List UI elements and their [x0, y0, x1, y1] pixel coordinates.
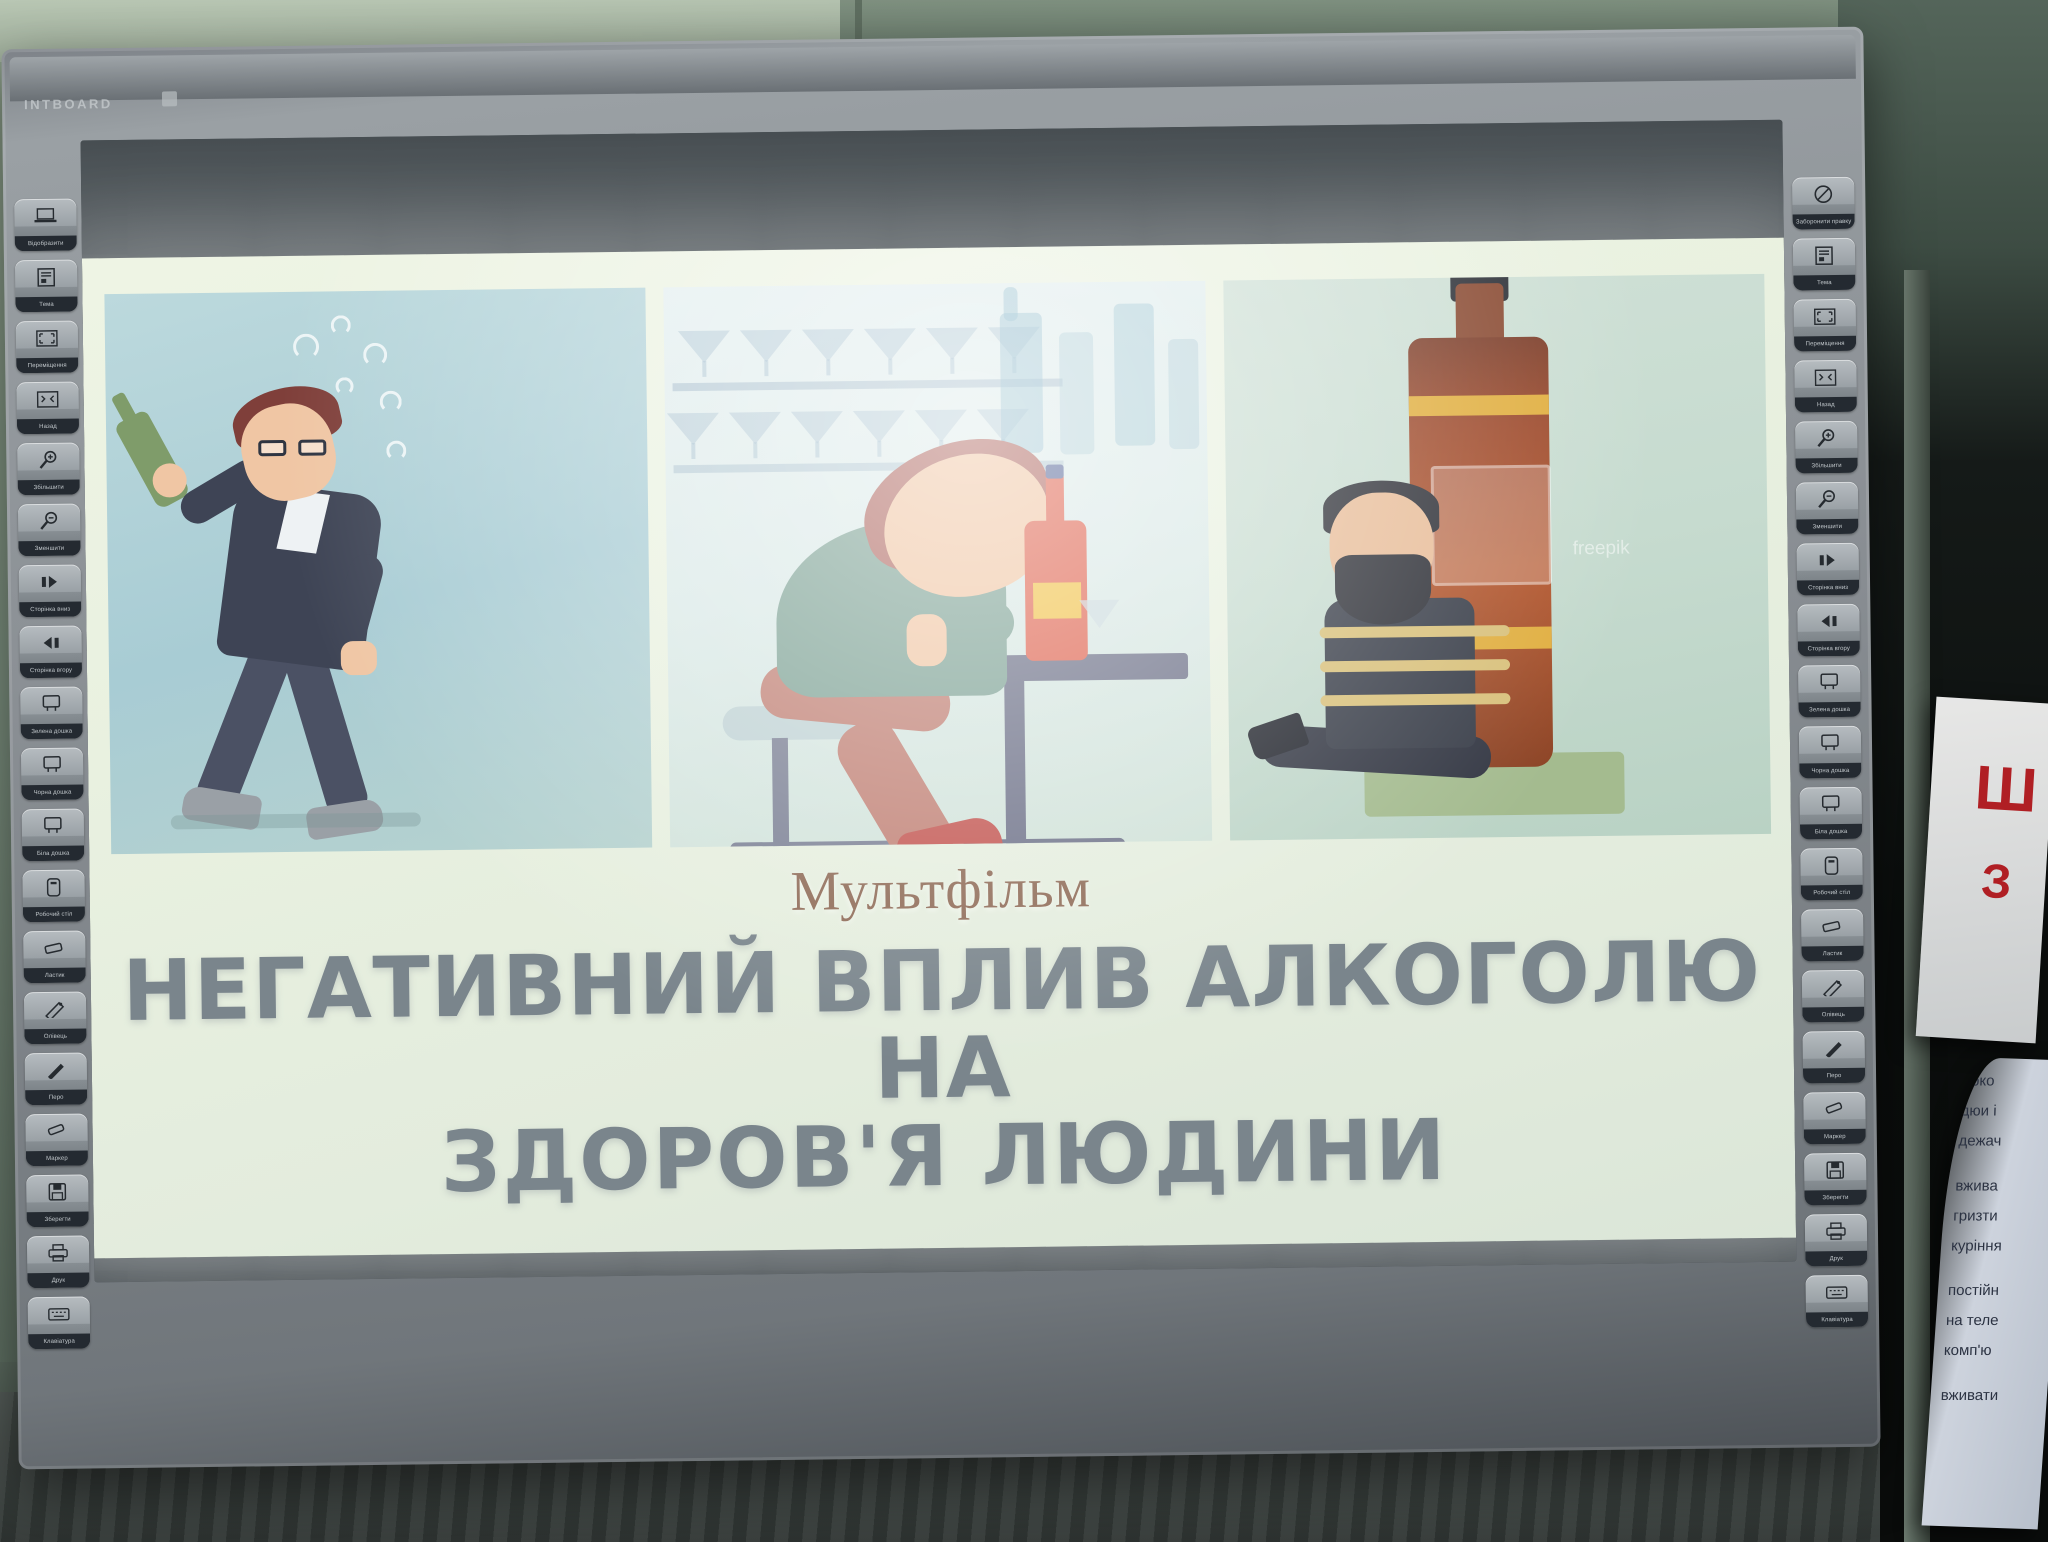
move-icon	[1810, 304, 1840, 328]
zoom-out-icon	[1812, 487, 1842, 511]
whiteboard-button-theme[interactable]: Тема	[1793, 238, 1856, 291]
whiteboard-button-label: Відобразити	[15, 236, 77, 252]
eraser-icon	[39, 936, 69, 960]
whiteboard-button-green-board[interactable]: Зелена дошка	[20, 686, 83, 739]
whiteboard-button-label: Зелена дошка	[1799, 702, 1861, 718]
green-board-icon	[36, 692, 66, 716]
page-up-icon	[1813, 609, 1843, 633]
whiteboard-button-label: Тема	[1793, 275, 1855, 291]
zoom-out-icon	[34, 509, 64, 533]
whiteboard-button-label: Біла дошка	[1800, 824, 1862, 840]
black-board-icon	[1815, 731, 1845, 755]
slide-title: НЕГАТИВНИЙ ВПЛИВ АЛКОГОЛЮ НА ЗДОРОВ'Я ЛЮ…	[118, 928, 1767, 1210]
wall-note-line: дюи і	[1960, 1103, 2048, 1120]
keyboard-icon	[1822, 1280, 1852, 1304]
wine-glass-icon	[1079, 600, 1119, 638]
whiteboard-button-keyboard[interactable]: Клавіатура	[28, 1296, 91, 1349]
marker-icon	[1819, 1097, 1849, 1121]
whiteboard-button-marker[interactable]: Маркер	[1803, 1092, 1866, 1145]
slide-title-line-2: ЗДОРОВ'Я ЛЮДИНИ	[121, 1103, 1768, 1210]
stool-post	[772, 738, 789, 847]
whiteboard-button-label: Ластик	[24, 967, 86, 983]
bottle-gold-band-upper	[1408, 395, 1548, 417]
whiteboard-button-pencil[interactable]: Олівець	[1802, 970, 1865, 1023]
whiteboard-button-label: Чорна дошка	[21, 784, 83, 800]
whiteboard-button-label: Зберегти	[1804, 1190, 1866, 1206]
wall-note-line: вжива	[1955, 1177, 2048, 1194]
whiteboard-button-black-board[interactable]: Чорна дошка	[21, 747, 84, 800]
whiteboard-button-page-up[interactable]: Сторінка вгору	[1797, 604, 1860, 657]
whiteboard-button-pencil[interactable]: Олівець	[24, 991, 87, 1044]
projection-screen[interactable]: freepik Мультфільм НЕГАТИВНИЙ ВПЛИВ АЛКО…	[81, 120, 1797, 1283]
wall-poster: Ш З	[1916, 697, 2048, 1044]
theme-icon	[1809, 243, 1839, 267]
whiteboard-button-label: Перо	[1803, 1068, 1865, 1084]
whiteboard-button-pen[interactable]: Перо	[25, 1052, 88, 1105]
wall-note-line: арко	[1962, 1073, 2048, 1090]
whiteboard-button-label: Друк	[27, 1272, 89, 1288]
page-down-icon	[1813, 548, 1843, 572]
wall-poster-line-1: Ш	[1973, 757, 2039, 823]
whiteboard-button-label: Олівець	[1802, 1007, 1864, 1023]
rope-middle	[1320, 659, 1510, 672]
whiteboard-button-label: Ластик	[1801, 946, 1863, 962]
whiteboard-button-column-right[interactable]: Заборонити правкуТемаПереміщенняНазадЗбі…	[1787, 177, 1873, 1328]
no-edit-icon	[1808, 182, 1838, 206]
slide-title-line-1: НЕГАТИВНИЙ ВПЛИВ АЛКОГОЛЮ НА	[118, 928, 1766, 1123]
whiteboard-button-print[interactable]: Друк	[1805, 1214, 1868, 1267]
save-icon	[1820, 1158, 1850, 1182]
whiteboard-button-label: Маркер	[1804, 1129, 1866, 1145]
slide-illustration-row: freepik	[104, 274, 1771, 854]
zoom-in-icon	[33, 448, 63, 472]
whiteboard-button-no-edit[interactable]: Заборонити правку	[1792, 177, 1855, 230]
brand-logo-icon	[162, 91, 177, 106]
page-down-icon	[35, 570, 65, 594]
whiteboard-button-label: Олівець	[24, 1028, 86, 1044]
panel-drunk-walking	[104, 288, 652, 855]
print-icon	[1821, 1219, 1851, 1243]
whiteboard-button-label: Назад	[17, 419, 79, 435]
back-icon	[33, 387, 63, 411]
page-up-icon	[36, 631, 66, 655]
whiteboard-button-zoom-in[interactable]: Збільшити	[17, 443, 80, 496]
whiteboard-button-label: Чорна дошка	[1799, 763, 1861, 779]
bar-table-leg	[1004, 679, 1026, 847]
pen-icon	[41, 1058, 71, 1082]
whiteboard-button-label: Сторінка вниз	[1797, 580, 1859, 596]
whiteboard-button-label: Маркер	[26, 1150, 88, 1166]
whiteboard-button-desktop[interactable]: Робочий стіл	[22, 869, 85, 922]
whiteboard-button-label: Робочий стіл	[23, 906, 85, 922]
whiteboard-button-label: Сторінка вгору	[1798, 641, 1860, 657]
whiteboard-button-move[interactable]: Переміщення	[1794, 299, 1857, 352]
whiteboard-button-label: Зберегти	[27, 1211, 89, 1227]
whiteboard-button-back[interactable]: Назад	[1794, 360, 1857, 413]
whiteboard-button-label: Біла дошка	[22, 845, 84, 861]
wall-note-line: куріння	[1951, 1237, 2048, 1254]
whiteboard-button-label: Назад	[1795, 397, 1857, 413]
zoom-in-icon	[1811, 426, 1841, 450]
whiteboard-button-label: Збільшити	[18, 480, 80, 496]
wall-note-line: постійн	[1948, 1282, 2048, 1299]
bottle-label-box	[1431, 465, 1552, 586]
panel-slumped-at-bar	[664, 281, 1212, 848]
fist-shape	[341, 641, 377, 675]
whiteboard-button-white-board[interactable]: Біла дошка	[1800, 787, 1863, 840]
whiteboard-button-label: Сторінка вниз	[19, 601, 81, 617]
slide-caption: Мультфільм	[89, 848, 1792, 933]
whiteboard-button-save[interactable]: Зберегти	[26, 1174, 89, 1227]
back-icon	[1810, 365, 1840, 389]
hand-shape	[152, 463, 186, 497]
wall-poster-line-2: З	[1980, 858, 2013, 908]
rope-lower	[1320, 693, 1510, 706]
wall-note-line: вживати	[1940, 1387, 2047, 1404]
glasses-icon	[258, 439, 330, 456]
whiteboard-button-eraser[interactable]: Ластик	[23, 930, 86, 983]
background-bottles	[664, 281, 1205, 288]
whiteboard-button-theme[interactable]: Тема	[15, 260, 78, 313]
whiteboard-button-pen[interactable]: Перо	[1803, 1031, 1866, 1084]
keyboard-icon	[44, 1302, 74, 1326]
black-board-icon	[37, 753, 67, 777]
whiteboard-button-page-down[interactable]: Сторінка вниз	[1797, 543, 1860, 596]
theme-icon	[31, 265, 61, 289]
whiteboard-button-page-down[interactable]: Сторінка вниз	[19, 564, 82, 617]
ground-shadow	[171, 812, 421, 829]
whiteboard-button-label: Збільшити	[1796, 458, 1858, 474]
screen-top-band	[81, 120, 1784, 261]
whiteboard-button-label: Переміщення	[1794, 336, 1856, 352]
desktop-icon	[38, 875, 68, 899]
wall-note-line: дежач	[1958, 1133, 2048, 1150]
whiteboard-button-zoom-in[interactable]: Збільшити	[1795, 421, 1858, 474]
whiteboard-button-label: Друк	[1805, 1251, 1867, 1267]
whiteboard-button-label: Клавіатура	[28, 1333, 90, 1349]
whiteboard-button-print[interactable]: Друк	[27, 1235, 90, 1288]
whiteboard-button-marker[interactable]: Маркер	[25, 1113, 88, 1166]
whiteboard-button-back[interactable]: Назад	[16, 382, 79, 435]
whiteboard-button-label: Зменшити	[1796, 519, 1858, 535]
whiteboard-button-label: Переміщення	[16, 358, 78, 374]
stool-base	[730, 841, 900, 848]
dizzy-bubbles-icon	[104, 288, 645, 295]
whiteboard-button-page-up[interactable]: Сторінка вгору	[19, 625, 82, 678]
wine-label-shape	[1033, 582, 1081, 619]
whiteboard-button-white-board[interactable]: Біла дошка	[22, 808, 85, 861]
print-icon	[43, 1241, 73, 1265]
whiteboard-button-zoom-out[interactable]: Зменшити	[18, 504, 81, 557]
whiteboard-button-label: Клавіатура	[1806, 1312, 1868, 1328]
green-board-icon	[1814, 670, 1844, 694]
whiteboard-button-label: Заборонити правку	[1793, 214, 1855, 230]
move-icon	[32, 326, 62, 350]
rope-upper	[1319, 625, 1509, 638]
wall-note-line: на теле	[1946, 1312, 2048, 1329]
pencil-icon	[40, 997, 70, 1021]
whiteboard-button-black-board[interactable]: Чорна дошка	[1799, 726, 1862, 779]
brand-label: INTBOARD	[24, 96, 113, 112]
whiteboard-button-label: Сторінка вгору	[20, 662, 82, 678]
whiteboard-button-green-board[interactable]: Зелена дошка	[1798, 665, 1861, 718]
laptop-icon	[30, 204, 60, 228]
whiteboard-button-zoom-out[interactable]: Зменшити	[1796, 482, 1859, 535]
presentation-slide[interactable]: freepik Мультфільм НЕГАТИВНИЙ ВПЛИВ АЛКО…	[82, 238, 1796, 1259]
whiteboard-button-save[interactable]: Зберегти	[1804, 1153, 1867, 1206]
whiteboard-button-keyboard[interactable]: Клавіатура	[1806, 1275, 1869, 1328]
panel-bound-to-bottle: freepik	[1223, 274, 1771, 841]
whiteboard-button-label: Перо	[25, 1089, 87, 1105]
whiteboard-button-label: Робочий стіл	[1801, 885, 1863, 901]
whiteboard-button-eraser[interactable]: Ластик	[1801, 909, 1864, 962]
bottle-icon	[114, 409, 192, 510]
whiteboard-button-label: Зелена дошка	[21, 723, 83, 739]
martini-glass-row-top	[678, 327, 1041, 377]
whiteboard-button-column-left[interactable]: ВідобразитиТемаПереміщенняНазадЗбільшити…	[9, 198, 95, 1349]
pencil-icon	[1818, 975, 1848, 999]
save-icon	[42, 1180, 72, 1204]
hand-shape	[906, 614, 947, 666]
eraser-icon	[1817, 914, 1847, 938]
wall-note-line: гризти	[1953, 1207, 2048, 1224]
whiteboard-button-label: Зменшити	[18, 540, 80, 556]
marker-icon	[41, 1119, 71, 1143]
white-board-icon	[38, 814, 68, 838]
whiteboard-button-desktop[interactable]: Робочий стіл	[1800, 848, 1863, 901]
white-board-icon	[1816, 792, 1846, 816]
wall-note-line: комп'ю	[1944, 1342, 2048, 1359]
whiteboard-button-label: Тема	[15, 297, 77, 313]
desktop-icon	[1816, 853, 1846, 877]
freepik-watermark: freepik	[1573, 538, 1630, 561]
pen-icon	[1819, 1036, 1849, 1060]
whiteboard-button-laptop[interactable]: Відобразити	[14, 199, 77, 252]
whiteboard-button-move[interactable]: Переміщення	[16, 321, 79, 374]
interactive-whiteboard[interactable]: INTBOARD	[1, 27, 1880, 1470]
